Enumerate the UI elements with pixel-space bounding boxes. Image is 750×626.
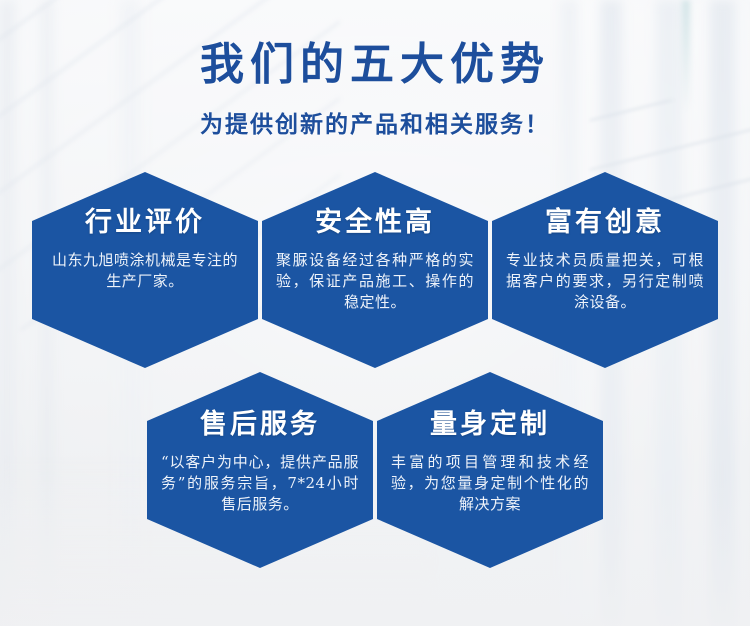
advantage-hex-tailor-made[interactable]: 量身定制 丰富的项目管理和技术经验，为您量身定制个性化的解决方案 [377, 372, 603, 568]
advantage-title: 行业评价 [85, 208, 205, 238]
advantage-description: 专业技术员质量把关，可根据客户的要求，另行定制喷涂设备。 [506, 250, 704, 314]
advantage-title: 富有创意 [545, 208, 665, 238]
advantage-hex-industry-reputation[interactable]: 行业评价 山东九旭喷涂机械是专注的生产厂家。 [32, 172, 258, 368]
advantage-hex-creative[interactable]: 富有创意 专业技术员质量把关，可根据客户的要求，另行定制喷涂设备。 [492, 172, 718, 368]
page-subtitle: 为提供创新的产品和相关服务！ [0, 105, 750, 139]
advantage-hex-after-sales-service[interactable]: 售后服务 “以客户为中心，提供产品服务”的服务宗旨，7*24小时售后服务。 [147, 372, 373, 568]
page-title: 我们的五大优势 [0, 40, 750, 91]
banner-heading-group: 我们的五大优势 为提供创新的产品和相关服务！ [0, 40, 750, 139]
advantage-title: 售后服务 [200, 410, 320, 440]
advantage-description: 丰富的项目管理和技术经验，为您量身定制个性化的解决方案 [391, 452, 589, 516]
advantage-title: 安全性高 [315, 208, 435, 238]
advantage-title: 量身定制 [430, 410, 550, 440]
advantage-description: 聚脲设备经过各种严格的实验，保证产品施工、操作的稳定性。 [276, 250, 474, 314]
advantage-description: “以客户为中心，提供产品服务”的服务宗旨，7*24小时售后服务。 [161, 452, 359, 516]
advantage-hex-high-safety[interactable]: 安全性高 聚脲设备经过各种严格的实验，保证产品施工、操作的稳定性。 [262, 172, 488, 368]
advantages-banner: 我们的五大优势 为提供创新的产品和相关服务！ 行业评价 山东九旭喷涂机械是专注的… [0, 0, 750, 626]
advantage-description: 山东九旭喷涂机械是专注的生产厂家。 [46, 250, 244, 293]
